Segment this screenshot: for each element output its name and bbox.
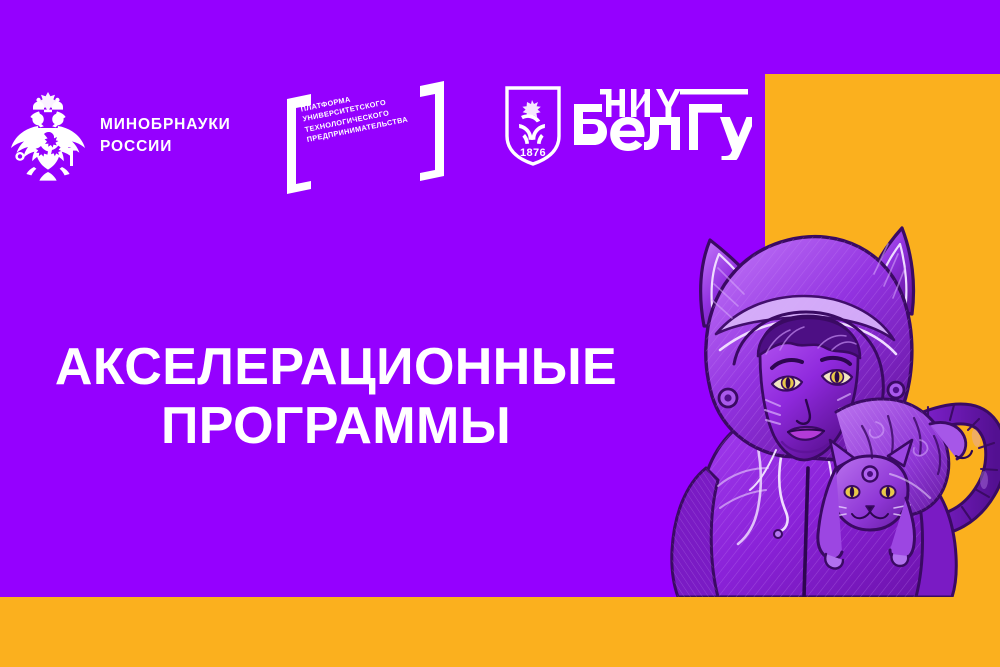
russian-double-headed-eagle-icon (8, 88, 88, 184)
promo-banner: МИНОБРНАУКИ РОССИИ ПЛАТФОРМА УНИВЕРСИТЕТ… (0, 0, 1000, 667)
page-title: АКСЕЛЕРАЦИОННЫЕ ПРОГРАММЫ (0, 338, 672, 457)
logo-belgu: 1876 (505, 86, 745, 178)
orange-bottom-strip (0, 597, 1000, 667)
logo-platform: ПЛАТФОРМА УНИВЕРСИТЕТСКОГО ТЕХНОЛОГИЧЕСК… (283, 80, 448, 200)
logo-ministry: МИНОБРНАУКИ РОССИИ (8, 88, 238, 188)
ministry-wordmark: МИНОБРНАУКИ РОССИИ (100, 114, 231, 158)
belgu-wordmark (570, 84, 752, 160)
headline-line-1: АКСЕЛЕРАЦИОННЫЕ (0, 338, 672, 397)
ministry-line-1: МИНОБРНАУКИ (100, 116, 231, 133)
belgu-shield-crest-icon: 1876 (505, 86, 561, 166)
ministry-line-2: РОССИИ (100, 138, 172, 155)
character-illustration (600, 168, 1000, 597)
headline-line-2: ПРОГРАММЫ (0, 397, 672, 456)
belgu-crest-year: 1876 (520, 147, 546, 159)
